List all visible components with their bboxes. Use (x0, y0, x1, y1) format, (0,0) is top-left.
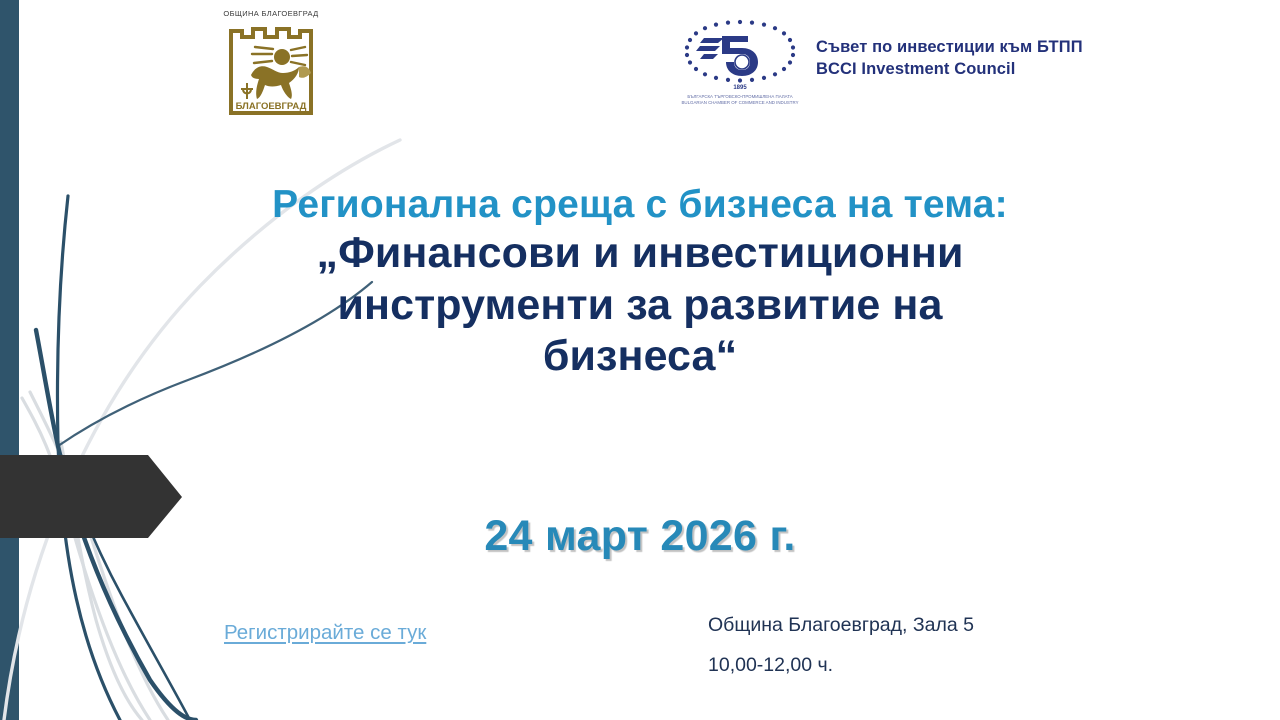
ribbon-dark-3 (58, 446, 190, 720)
bcci-logo-text: Съвет по инвестиции към БТПП BCCI Invest… (816, 36, 1083, 81)
arrow-banner (0, 455, 182, 538)
venue-location: Община Благоевград, Зала 5 (708, 606, 974, 646)
bcci-title-en: BCCI Investment Council (816, 58, 1083, 80)
municipality-caption: ОБЩИНА БЛАГОЕВГРАД (198, 9, 344, 18)
title-line-2: „Финансови и инвестиционни (180, 228, 1100, 280)
bcci-title-bg: Съвет по инвестиции към БТПП (816, 36, 1083, 58)
left-accent-bar (0, 0, 19, 720)
municipality-logo: ОБЩИНА БЛАГОЕВГРАД (198, 4, 344, 128)
venue-details: Община Благоевград, Зала 5 10,00-12,00 ч… (708, 606, 974, 686)
ribbon-dark-1 (36, 330, 196, 720)
bcci-emblem-subtitle-bg: БЪЛГАРСКА ТЪРГОВСКО-ПРОМИШЛЕНА ПАЛАТА (687, 94, 792, 99)
ribbon-light-1 (22, 398, 150, 720)
ribbon-dark-2 (57, 196, 120, 720)
bcci-logo: 1895 БЪЛГАРСКА ТЪРГОВСКО-ПРОМИШЛЕНА ПАЛА… (674, 6, 1080, 110)
title-line-4: бизнеса“ (180, 331, 1100, 383)
ribbon-light-3 (61, 442, 142, 720)
slide-title: Регионална среща с бизнеса на тема: „Фин… (180, 182, 1100, 383)
presentation-slide: ОБЩИНА БЛАГОЕВГРАД (0, 0, 1280, 720)
title-line-1: Регионална среща с бизнеса на тема: (180, 182, 1100, 228)
crest-motto: БЛАГОЕВГРАД (236, 101, 307, 112)
venue-time: 10,00-12,00 ч. (708, 646, 974, 686)
event-date: 24 март 2026 г. (180, 512, 1100, 561)
bcci-emblem-year: 1895 (733, 85, 747, 91)
bcci-emblem-subtitle-en: BULGARIAN CHAMBER OF COMMERCE AND INDUST… (681, 100, 798, 105)
blagoevgrad-coat-of-arms-icon: БЛАГОЕВГРАД (225, 21, 317, 119)
title-line-3: инструменти за развитие на (180, 280, 1100, 332)
ribbon-light-2 (30, 392, 168, 720)
registration-link[interactable]: Регистрирайте се тук (224, 621, 426, 645)
bcci-emblem-icon: 1895 БЪЛГАРСКА ТЪРГОВСКО-ПРОМИШЛЕНА ПАЛА… (674, 8, 806, 108)
